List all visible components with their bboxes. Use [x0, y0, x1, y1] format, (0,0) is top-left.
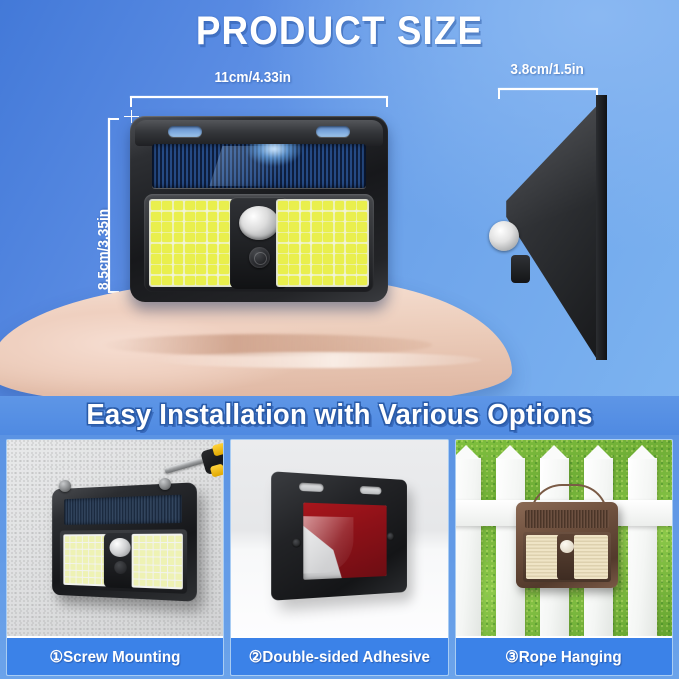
screw-mounting-caption: ①Screw Mounting [50, 647, 181, 667]
solar-panel [152, 144, 366, 188]
led-cell [71, 536, 76, 542]
led-cell [162, 265, 172, 274]
led-cell [151, 254, 161, 263]
led-cell [147, 550, 153, 557]
led-cell [71, 564, 76, 570]
led-cell [175, 535, 181, 542]
page-title: PRODUCT SIZE [27, 9, 652, 54]
led-cell [77, 564, 82, 570]
led-cell [83, 578, 88, 584]
led-cell [168, 573, 174, 580]
led-cell [77, 543, 82, 549]
led-cell [71, 543, 76, 549]
led-cell [89, 578, 94, 584]
wall-lamp-led-left [63, 534, 108, 586]
led-cell [140, 565, 146, 572]
led-cell [174, 276, 184, 285]
led-cell [278, 244, 288, 253]
led-cell [196, 222, 206, 231]
led-cell [95, 536, 100, 542]
installation-cards: ①Screw Mounting [6, 439, 673, 676]
led-cell [208, 212, 218, 221]
led-cell [95, 550, 100, 556]
led-cell [89, 571, 94, 577]
rear-recess [304, 503, 387, 580]
led-cell [346, 222, 356, 231]
led-cell [77, 571, 82, 577]
led-cell [147, 573, 153, 580]
led-cell [208, 276, 218, 285]
led-cell [208, 265, 218, 274]
led-cell [151, 265, 161, 274]
led-cell [162, 244, 172, 253]
fence-picket [628, 458, 657, 636]
led-cell [312, 201, 322, 210]
depth-dimension-label: 3.8cm/1.5in [510, 62, 583, 78]
led-cell [133, 580, 139, 587]
led-cell [289, 265, 299, 274]
led-cell [346, 201, 356, 210]
led-cell [323, 244, 333, 253]
led-cell [208, 222, 218, 231]
led-cell [162, 276, 172, 285]
led-cell [161, 573, 167, 580]
led-cell [161, 581, 167, 588]
led-cell [335, 244, 345, 253]
led-cell [65, 577, 70, 583]
led-cell [65, 550, 70, 556]
led-cell [140, 550, 146, 556]
led-cell [196, 254, 206, 263]
led-cell [335, 265, 345, 274]
led-cell [168, 558, 174, 565]
led-cell [208, 201, 218, 210]
led-cell [289, 233, 299, 242]
led-cell [323, 212, 333, 221]
led-cell [219, 244, 229, 253]
led-cell [151, 244, 161, 253]
led-cell [140, 535, 146, 541]
led-cell [185, 222, 195, 231]
led-cell [154, 543, 160, 550]
led-cell [196, 212, 206, 221]
led-cell [151, 276, 161, 285]
led-cell [196, 244, 206, 253]
led-cell [289, 254, 299, 263]
led-cell [357, 233, 367, 242]
led-cell [168, 566, 174, 573]
led-cell [83, 550, 88, 556]
led-cell [162, 222, 172, 231]
led-cell [161, 535, 167, 542]
led-cell [323, 233, 333, 242]
led-cell [335, 201, 345, 210]
led-cell [185, 265, 195, 274]
led-cell [346, 254, 356, 263]
led-cell [346, 212, 356, 221]
led-cell [312, 222, 322, 231]
led-cell [312, 244, 322, 253]
led-cell [219, 201, 229, 210]
led-cell [65, 564, 70, 570]
led-cell [175, 543, 181, 550]
led-cell [357, 254, 367, 263]
led-cell [71, 571, 76, 577]
led-cell [196, 276, 206, 285]
led-cell [357, 212, 367, 221]
led-cell [161, 558, 167, 565]
led-cell [323, 222, 333, 231]
led-cell [174, 254, 184, 263]
width-dimension-line [130, 96, 388, 98]
led-cell [154, 565, 160, 572]
led-cell [95, 564, 100, 570]
led-cell [133, 550, 139, 556]
led-cell [147, 565, 153, 572]
led-grid-right [278, 201, 367, 285]
width-tick-left [130, 96, 132, 107]
led-cell [175, 550, 181, 557]
led-cell [161, 565, 167, 572]
led-cell [219, 233, 229, 242]
hang-slot-left-icon [168, 126, 202, 137]
led-cell [346, 233, 356, 242]
led-cell [151, 201, 161, 210]
led-cell [357, 222, 367, 231]
screw-mounting-caption-bar: ①Screw Mounting [7, 638, 223, 675]
led-cell [196, 233, 206, 242]
screw-right-icon [159, 478, 171, 490]
adhesive-caption: ②Double-sided Adhesive [249, 647, 430, 667]
led-cell [185, 276, 195, 285]
led-cell [301, 201, 311, 210]
led-cell [175, 558, 181, 565]
width-tick-right [386, 96, 388, 107]
wall-lamp-led-zone [60, 529, 187, 594]
led-cell [154, 580, 160, 587]
led-cell [185, 244, 195, 253]
led-cell [95, 571, 100, 577]
led-cell [174, 265, 184, 274]
depth-dimension-line [498, 88, 598, 90]
led-cell [185, 201, 195, 210]
led-cell [335, 233, 345, 242]
led-cell [140, 580, 146, 587]
led-cell [161, 550, 167, 557]
led-cell [323, 254, 333, 263]
height-dimension-line [108, 118, 110, 292]
led-cell [168, 535, 174, 542]
side-sensor-housing [511, 255, 530, 283]
led-cell [357, 265, 367, 274]
led-cell [77, 536, 82, 542]
led-zone [144, 194, 374, 292]
hanging-lamp [516, 502, 618, 588]
photocell-sensor-icon [249, 247, 270, 268]
hanging-lamp-solar-panel [525, 510, 609, 528]
led-cell [174, 201, 184, 210]
hanging-lamp-led-zone [523, 532, 611, 582]
led-cell [133, 565, 139, 571]
led-cell [278, 265, 288, 274]
led-cell [335, 222, 345, 231]
rear-hang-slot-left [299, 483, 323, 493]
led-cell [185, 212, 195, 221]
led-cell [219, 265, 229, 274]
led-cell [175, 566, 181, 573]
installation-options-section: ①Screw Mounting [0, 435, 679, 679]
led-cell [77, 578, 82, 584]
led-cell [185, 254, 195, 263]
led-cell [140, 572, 146, 579]
led-cell [89, 536, 94, 542]
wall-lamp-solar-panel [64, 495, 182, 525]
led-cell [83, 543, 88, 549]
led-cell [174, 244, 184, 253]
led-cell [219, 276, 229, 285]
rope-hanging-caption: ③Rope Hanging [505, 647, 622, 667]
led-cell [154, 535, 160, 541]
led-cell [83, 557, 88, 563]
led-cell [174, 233, 184, 242]
led-cell [71, 550, 76, 556]
led-cell [335, 276, 345, 285]
led-cell [208, 244, 218, 253]
rope-hanging-image [456, 440, 672, 636]
led-cell [151, 212, 161, 221]
led-cell [175, 573, 181, 580]
led-cell [95, 578, 100, 584]
side-pir-sensor-icon [489, 221, 519, 251]
led-cell [278, 254, 288, 263]
led-cell [301, 244, 311, 253]
led-cell [346, 244, 356, 253]
installation-banner: Easy Installation with Various Options [0, 396, 679, 435]
rope-hanging-caption-bar: ③Rope Hanging [456, 638, 672, 675]
led-cell [71, 578, 76, 584]
led-cell [357, 276, 367, 285]
led-cell [133, 572, 139, 579]
solar-panel-glint [246, 144, 302, 166]
led-cell [147, 543, 153, 549]
led-cell [162, 201, 172, 210]
led-cell [278, 276, 288, 285]
led-cell [301, 212, 311, 221]
led-cell [335, 254, 345, 263]
led-cell [196, 201, 206, 210]
led-cell [278, 233, 288, 242]
led-cell [323, 201, 333, 210]
led-grid-left [151, 201, 240, 285]
led-cell [323, 265, 333, 274]
screwdriver-grip-top [212, 442, 224, 456]
installation-card-screw[interactable]: ①Screw Mounting [6, 439, 224, 676]
led-cell [83, 571, 88, 577]
led-cell [312, 254, 322, 263]
hanging-lamp-led-left [526, 535, 560, 579]
wall-mounted-lamp [52, 482, 197, 601]
led-cell [301, 276, 311, 285]
led-cell [77, 550, 82, 556]
led-cell [301, 233, 311, 242]
led-array-right [276, 199, 369, 287]
hang-slot-right-icon [316, 126, 350, 137]
hanging-lamp-led-right [574, 535, 608, 579]
led-cell [147, 535, 153, 541]
led-cell [312, 265, 322, 274]
led-cell [65, 570, 70, 576]
led-cell [168, 543, 174, 550]
led-cell [278, 222, 288, 231]
led-cell [151, 222, 161, 231]
led-cell [208, 254, 218, 263]
led-cell [65, 543, 70, 549]
led-cell [196, 265, 206, 274]
side-back-plate [596, 95, 607, 360]
led-cell [89, 564, 94, 570]
led-cell [346, 276, 356, 285]
rear-hang-slot-right [360, 486, 382, 495]
led-cell [83, 536, 88, 542]
product-size-section: PRODUCT SIZE 11cm/4.33in 8.5cm/3.35in 3.… [0, 0, 679, 396]
led-cell [154, 558, 160, 565]
banner-title: Easy Installation with Various Options [86, 399, 592, 432]
led-cell [133, 558, 139, 564]
led-cell [219, 222, 229, 231]
led-cell [151, 233, 161, 242]
fence-picket [456, 458, 481, 636]
led-cell [312, 276, 322, 285]
led-array-left [149, 199, 242, 287]
led-cell [133, 535, 139, 541]
led-cell [301, 265, 311, 274]
led-cell [301, 254, 311, 263]
led-cell [77, 557, 82, 563]
product-infographic: PRODUCT SIZE 11cm/4.33in 8.5cm/3.35in 3.… [0, 0, 679, 679]
led-cell [71, 557, 76, 563]
led-cell [161, 543, 167, 550]
led-cell [133, 543, 139, 549]
led-cell [147, 558, 153, 565]
product-side-view [487, 95, 607, 360]
led-cell [65, 557, 70, 563]
led-cell [140, 558, 146, 565]
led-cell [95, 557, 100, 563]
led-cell [278, 212, 288, 221]
led-cell [174, 222, 184, 231]
led-cell [154, 573, 160, 580]
led-cell [185, 233, 195, 242]
adhesive-image [231, 440, 447, 636]
led-cell [168, 581, 174, 588]
led-cell [357, 201, 367, 210]
led-cell [301, 222, 311, 231]
led-cell [289, 276, 299, 285]
led-cell [95, 543, 100, 549]
led-cell [312, 212, 322, 221]
grass-background [456, 440, 672, 636]
screw-left-icon [59, 480, 71, 492]
wall-lamp-pir-icon [110, 538, 131, 557]
led-cell [323, 276, 333, 285]
led-cell [174, 212, 184, 221]
led-cell [208, 233, 218, 242]
screw-mounting-image [7, 440, 223, 636]
hand-edge-highlight [152, 352, 482, 368]
led-cell [289, 212, 299, 221]
hanging-lamp-pir-icon [560, 540, 574, 553]
led-cell [89, 543, 94, 549]
width-dimension-label: 11cm/4.33in [214, 70, 291, 86]
height-dimension-label: 8.5cm/3.35in [96, 209, 112, 290]
height-tick-top [108, 118, 119, 120]
installation-card-adhesive[interactable]: ②Double-sided Adhesive [230, 439, 448, 676]
led-cell [335, 212, 345, 221]
led-cell [346, 265, 356, 274]
adhesive-caption-bar: ②Double-sided Adhesive [231, 638, 447, 675]
led-cell [289, 201, 299, 210]
led-cell [312, 233, 322, 242]
led-cell [289, 244, 299, 253]
led-cell [289, 222, 299, 231]
led-cell [147, 580, 153, 587]
led-cell [175, 581, 181, 588]
led-cell [168, 550, 174, 557]
pir-motion-sensor-icon [239, 206, 279, 240]
led-cell [219, 254, 229, 263]
led-cell [357, 244, 367, 253]
led-cell [162, 212, 172, 221]
led-cell [154, 550, 160, 557]
lamp-rear-view [271, 471, 407, 600]
led-cell [140, 543, 146, 549]
wall-lamp-led-right [132, 534, 183, 590]
led-cell [278, 201, 288, 210]
led-cell [83, 564, 88, 570]
led-cell [162, 233, 172, 242]
led-cell [65, 536, 70, 542]
led-cell [89, 550, 94, 556]
wall-lamp-photocell-icon [114, 561, 126, 574]
installation-card-rope[interactable]: ③Rope Hanging [455, 439, 673, 676]
led-cell [162, 254, 172, 263]
product-front-view [130, 116, 388, 302]
led-cell [219, 212, 229, 221]
led-cell [89, 557, 94, 563]
